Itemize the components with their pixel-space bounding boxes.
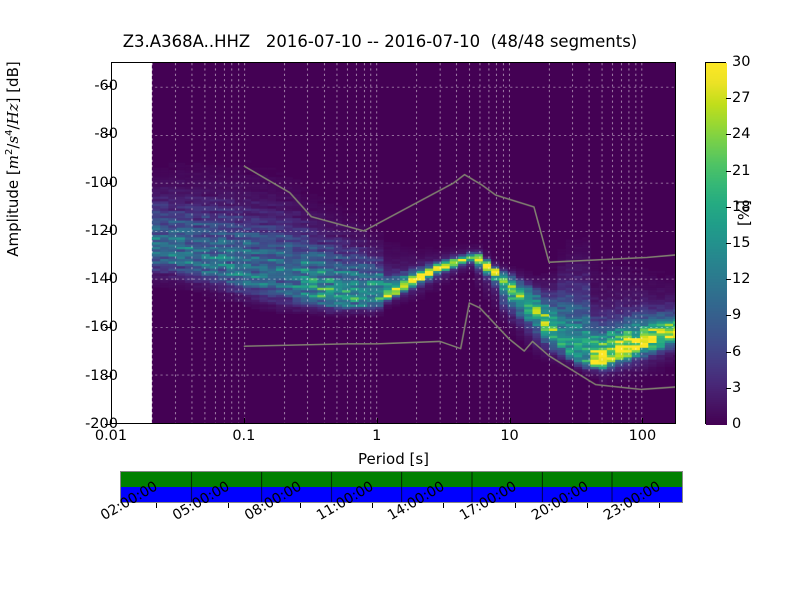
timeline-tick-mark xyxy=(156,503,157,508)
timeline-tick-mark xyxy=(515,503,516,508)
colorbar-gradient xyxy=(706,63,727,425)
timeline-tick-mark xyxy=(443,503,444,508)
y-tick-mark xyxy=(105,86,111,87)
x-axis-label: Period [s] xyxy=(111,450,676,468)
colorbar-tick-mark xyxy=(726,388,731,389)
colorbar-tick-mark xyxy=(726,207,731,208)
x-tick-mark xyxy=(377,418,378,424)
colorbar-tick-mark xyxy=(726,98,731,99)
colorbar-tick-mark xyxy=(726,315,731,316)
colorbar-tick-mark xyxy=(726,279,731,280)
y-tick-mark xyxy=(105,183,111,184)
y-tick-mark xyxy=(105,327,111,328)
x-tick-label: 10 xyxy=(470,428,550,444)
colorbar-tick-label: 6 xyxy=(732,344,741,360)
colorbar-tick-mark xyxy=(726,134,731,135)
y-tick-mark xyxy=(105,376,111,377)
x-tick-label: 1 xyxy=(337,428,417,444)
colorbar-tick-mark xyxy=(726,243,731,244)
colorbar-tick-label: 27 xyxy=(732,90,750,106)
colorbar-tick-label: 9 xyxy=(732,307,741,323)
y-axis-label: Amplitude [m2/s4/Hz] [dB] xyxy=(4,0,22,324)
colorbar-tick-label: 0 xyxy=(732,416,741,432)
timeline-tick-mark xyxy=(587,503,588,508)
x-tick-label: 0.1 xyxy=(204,428,284,444)
colorbar-tick-mark xyxy=(726,171,731,172)
colorbar-tick-label: 21 xyxy=(732,163,750,179)
x-tick-label: 0.01 xyxy=(71,428,151,444)
ppsd-histogram-canvas xyxy=(112,63,675,423)
timeline-tick-mark xyxy=(300,503,301,508)
colorbar[interactable] xyxy=(705,62,726,424)
y-tick-mark xyxy=(105,134,111,135)
x-tick-mark xyxy=(111,418,112,424)
x-tick-mark xyxy=(510,418,511,424)
x-tick-mark xyxy=(642,418,643,424)
y-tick-mark xyxy=(105,424,111,425)
figure-title: Z3.A368A..HHZ 2016-07-10 -- 2016-07-10 (… xyxy=(0,32,760,51)
ppsd-figure: Z3.A368A..HHZ 2016-07-10 -- 2016-07-10 (… xyxy=(0,0,800,600)
y-tick-mark xyxy=(105,279,111,280)
colorbar-tick-label: 12 xyxy=(732,271,750,287)
colorbar-unit-label: [%] xyxy=(735,183,753,243)
timeline-tick-mark xyxy=(659,503,660,508)
ppsd-plot-area[interactable] xyxy=(111,62,676,424)
x-tick-label: 100 xyxy=(602,428,682,444)
timeline-tick-mark xyxy=(372,503,373,508)
colorbar-tick-mark xyxy=(726,352,731,353)
x-tick-mark xyxy=(244,418,245,424)
colorbar-tick-label: 24 xyxy=(732,126,750,142)
colorbar-tick-label: 3 xyxy=(732,380,741,396)
y-tick-mark xyxy=(105,231,111,232)
timeline-tick-mark xyxy=(228,503,229,508)
colorbar-tick-label: 30 xyxy=(732,54,750,70)
